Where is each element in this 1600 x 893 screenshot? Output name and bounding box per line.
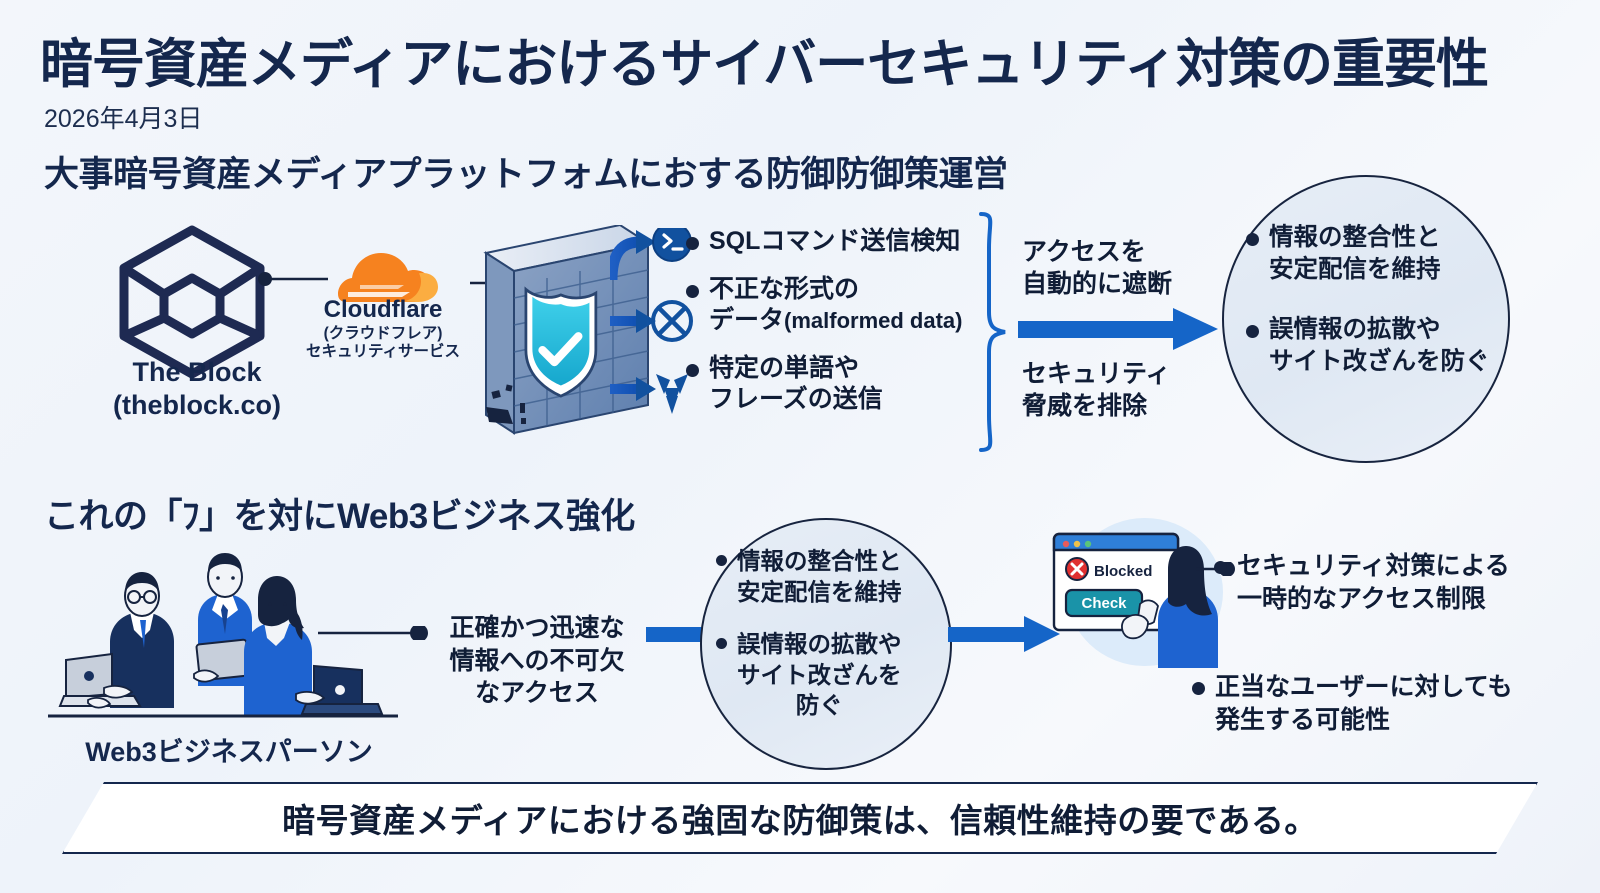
detection-bullet-1-text: SQLコマンド送信検知	[709, 227, 960, 255]
bullet-dot	[1246, 325, 1259, 338]
bullet-dot	[686, 285, 699, 298]
outcome-2-bullet-1-line1: 情報の整合性と	[737, 546, 902, 577]
people-label: Web3ビジネスパーソン	[48, 730, 410, 769]
outcome-2-bullet-1: 情報の整合性と 安定配信を維持	[716, 546, 938, 607]
blocked-status-icon	[1066, 558, 1088, 580]
section2-heading: これの「ﾌ」を対にWeb3ビジネス強化	[44, 488, 635, 539]
conclusion-banner: 暗号資産メディアにおける強固な防御策は、信頼性維持の要である。	[62, 782, 1538, 854]
cloudflare-name: Cloudflare	[290, 296, 476, 325]
access-need-line1: 正確かつ迅速な	[432, 612, 642, 645]
cloudflare-label: Cloudflare (クラウドフレア) セキュリティサービス	[290, 296, 476, 362]
connector-line-2	[318, 626, 428, 640]
bullet-dot	[1246, 233, 1259, 246]
consequence-bullet-1-line1: セキュリティ対策による	[1237, 550, 1510, 583]
grouping-brace	[975, 212, 1009, 452]
detection-bullet-2-line2: データ	[709, 306, 784, 334]
bullet-dot	[716, 555, 727, 566]
consequence-bullet-2-line1: 正当なユーザーに対しても	[1215, 671, 1513, 704]
middle-label-above-arrow: アクセスを 自動的に遮断	[1022, 236, 1212, 300]
page-title: 暗号資産メディアにおけるサイバーセキュリティ対策の重要性	[40, 22, 1488, 98]
blocked-browser-illustration: Blocked Check	[1040, 512, 1230, 672]
cloudflare-sub-2: セキュリティサービス	[290, 343, 476, 362]
outcome-1-bullet-1-line1: 情報の整合性と	[1269, 222, 1441, 254]
consequence-bullet-1: セキュリティ対策による 一時的なアクセス制限	[1214, 550, 1594, 615]
the-block-label: The Block (theblock.co)	[72, 356, 322, 422]
middle-label-below-arrow: セキュリティ 脅威を排除	[1022, 358, 1212, 422]
the-block-name: The Block	[72, 356, 322, 389]
banner-text: 暗号資産メディアにおける強固な防御策は、信頼性維持の要である。	[62, 782, 1538, 854]
consequence-bullet-1-line2: 一時的なアクセス制限	[1237, 583, 1510, 616]
detection-bullet-2: 不正な形式の データ(malformed data)	[686, 274, 986, 337]
detection-bullet-2-en: (malformed data)	[784, 308, 962, 333]
bullet-dot	[1192, 682, 1205, 695]
detection-bullet-list: SQLコマンド送信検知 不正な形式の データ(malformed data) 特…	[686, 226, 986, 432]
outcome-2-bullet-2: 誤情報の拡散や サイト改ざんを 防ぐ	[716, 629, 938, 721]
outcome-1-bullet-2-line2: サイト改ざんを防ぐ	[1269, 346, 1490, 378]
the-block-domain: (theblock.co)	[72, 389, 322, 422]
middle-label-above-line1: アクセスを	[1022, 236, 1212, 268]
consequence-bullet-2-line2: 発生する可能性	[1215, 704, 1513, 737]
bullet-dot	[716, 638, 727, 649]
detection-bullet-3-line1: 特定の単語や	[709, 353, 883, 385]
page-date: 2026年4月3日	[44, 99, 202, 135]
bullet-dot	[686, 364, 699, 377]
section1-heading: 大事暗号資産メディアプラットフォムにおする防御防御策運営	[44, 146, 1008, 197]
consequence-bullet-2: 正当なユーザーに対しても 発生する可能性	[1192, 671, 1594, 736]
outcome-1-bullet-2-line1: 誤情報の拡散や	[1269, 314, 1490, 346]
down-arrows-icon	[656, 374, 688, 414]
middle-label-below-line2: 脅威を排除	[1022, 390, 1212, 422]
blocked-label: Blocked	[1094, 563, 1152, 580]
bullet-dot	[686, 237, 699, 250]
bullet-dot	[1214, 561, 1227, 574]
outcome-2-bullet-2-line1: 誤情報の拡散や	[737, 629, 902, 660]
access-need-line2: 情報への不可欠	[432, 645, 642, 678]
outcome-2-bullet-1-line2: 安定配信を維持	[737, 577, 902, 608]
check-button-label: Check	[1081, 595, 1127, 612]
outcome-1-bullet-1-line2: 安定配信を維持	[1269, 254, 1441, 286]
access-need-line3: なアクセス	[432, 677, 642, 710]
big-arrow-1	[1018, 308, 1218, 350]
outcome-2-bullet-2-line2: サイト改ざんを	[737, 660, 902, 691]
detection-bullet-3: 特定の単語や フレーズの送信	[686, 353, 986, 416]
outcome-1-bullet-2: 誤情報の拡散や サイト改ざんを防ぐ	[1246, 314, 1494, 378]
outcome-2-bullet-2-line3: 防ぐ	[737, 690, 902, 721]
access-need-label: 正確かつ迅速な 情報への不可欠 なアクセス	[432, 612, 642, 710]
outcome-circle-2-list: 情報の整合性と 安定配信を維持 誤情報の拡散や サイト改ざんを 防ぐ	[716, 546, 938, 743]
cloudflare-sub-1: (クラウドフレア)	[290, 325, 476, 344]
outcome-circle-1-list: 情報の整合性と 安定配信を維持 誤情報の拡散や サイト改ざんを防ぐ	[1246, 222, 1494, 405]
detection-bullet-3-line2: フレーズの送信	[709, 384, 883, 416]
consequence-bullet-list: セキュリティ対策による 一時的なアクセス制限 正当なユーザーに対しても 発生する…	[1214, 550, 1594, 736]
middle-label-below-line1: セキュリティ	[1022, 358, 1212, 390]
infographic-page: 暗号資産メディアにおけるサイバーセキュリティ対策の重要性 2026年4月3日 大…	[0, 0, 1600, 893]
detection-bullet-2-line1: 不正な形式の	[709, 274, 963, 306]
detection-bullet-1: SQLコマンド送信検知	[686, 226, 986, 258]
outcome-1-bullet-1: 情報の整合性と 安定配信を維持	[1246, 222, 1494, 286]
middle-label-above-line2: 自動的に遮断	[1022, 268, 1212, 300]
